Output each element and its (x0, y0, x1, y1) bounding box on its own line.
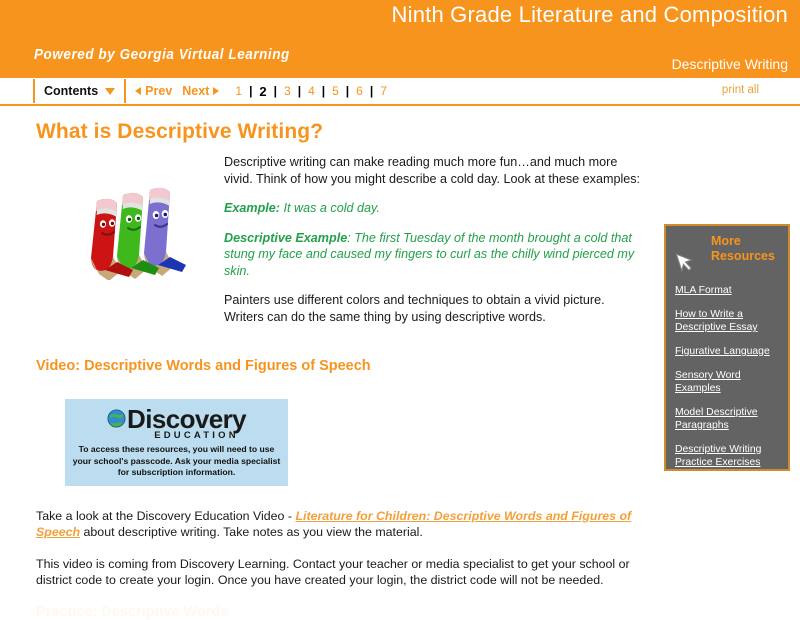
page-navigation-bar: Contents Prev Next 1 | 2 | 3 | 4 | 5 | 6… (0, 78, 800, 106)
three-cartoon-pencils-image (80, 168, 192, 280)
chevron-down-icon (105, 88, 115, 95)
page-link-7[interactable]: 7 (378, 84, 389, 98)
intro-paragraph: Descriptive writing can make reading muc… (224, 154, 642, 187)
sidebar-link-descriptive-writing-practice-exercises[interactable]: Descriptive Writing Practice Exercises (675, 443, 779, 469)
sidebar-link-model-descriptive-paragraphs[interactable]: Model Descriptive Paragraphs (675, 406, 779, 432)
page-link-3[interactable]: 3 (282, 84, 293, 98)
example-text: It was a cold day. (280, 201, 380, 215)
arrow-right-icon[interactable] (213, 87, 219, 95)
tail-text-block: Take a look at the Discovery Education V… (36, 508, 636, 589)
sidebar-link-sensory-word-examples[interactable]: Sensory Word Examples (675, 369, 779, 395)
more-resources-panel: More Resources MLA Format How to Write a… (664, 224, 790, 471)
example-line: Example: It was a cold day. (224, 200, 642, 217)
intro-text-block: Descriptive writing can make reading muc… (224, 154, 642, 325)
video-section-title: Video: Descriptive Words and Figures of … (36, 338, 646, 374)
nav-links-group: Prev Next 1 | 2 | 3 | 4 | 5 | 6 | 7 (126, 84, 389, 99)
site-header: Ninth Grade Literature and Composition D… (0, 0, 800, 78)
main-content-column: What is Descriptive Writing? (36, 106, 646, 620)
page-link-4[interactable]: 4 (306, 84, 317, 98)
contents-button[interactable]: Contents (35, 79, 124, 103)
prev-button[interactable]: Prev (145, 84, 172, 98)
discovery-education-sub: EDUCATION (71, 430, 282, 441)
next-button[interactable]: Next (182, 84, 209, 98)
example-label: Example: (224, 201, 280, 215)
page-link-6[interactable]: 6 (354, 84, 365, 98)
powered-by-label: Powered by Georgia Virtual Learning (34, 47, 290, 63)
descriptive-example-label: Descriptive Example (224, 231, 347, 245)
arrow-left-icon[interactable] (135, 87, 141, 95)
page-separator: | (244, 84, 257, 98)
globe-icon (107, 409, 126, 428)
login-info-paragraph: This video is coming from Discovery Lear… (36, 556, 636, 589)
video-instruction-paragraph: Take a look at the Discovery Education V… (36, 508, 636, 541)
page-title: What is Descriptive Writing? (36, 106, 646, 144)
page-link-5[interactable]: 5 (330, 84, 341, 98)
page-separator: | (293, 84, 306, 98)
painters-paragraph: Painters use different colors and techni… (224, 292, 642, 325)
more-resources-links: MLA Format How to Write a Descriptive Es… (666, 284, 788, 469)
page-separator: | (341, 84, 354, 98)
intro-section: Descriptive writing can make reading muc… (36, 154, 646, 325)
discovery-passcode-note: To access these resources, you will need… (71, 444, 282, 479)
more-resources-header: More Resources (666, 226, 788, 284)
print-all-link[interactable]: print all (722, 84, 759, 96)
next-section-heading-cutoff: Practice: Descriptive Words (36, 604, 646, 620)
more-resources-title: More Resources (687, 234, 779, 264)
sidebar-link-mla-format[interactable]: MLA Format (675, 284, 779, 297)
tail-outro-text: about descriptive writing. Take notes as… (80, 525, 423, 539)
page-link-1[interactable]: 1 (233, 84, 244, 98)
tail-intro-text: Take a look at the Discovery Education V… (36, 509, 295, 523)
page-separator: | (269, 84, 282, 98)
discovery-logo: Discovery (71, 406, 282, 432)
page-link-2[interactable]: 2 (257, 84, 268, 99)
course-title: Ninth Grade Literature and Composition (268, 2, 788, 27)
descriptive-example-line: Descriptive Example: The first Tuesday o… (224, 230, 642, 280)
contents-label: Contents (44, 84, 98, 98)
sidebar-link-figurative-language[interactable]: Figurative Language (675, 345, 779, 358)
page-separator: | (365, 84, 378, 98)
discovery-education-banner[interactable]: Discovery EDUCATION To access these reso… (65, 399, 288, 486)
sidebar-link-how-to-write-descriptive-essay[interactable]: How to Write a Descriptive Essay (675, 308, 779, 334)
unit-title: Descriptive Writing (268, 56, 788, 73)
page-number-list: 1 | 2 | 3 | 4 | 5 | 6 | 7 (233, 84, 389, 99)
page-separator: | (317, 84, 330, 98)
page-body: What is Descriptive Writing? (0, 106, 800, 590)
discovery-wordmark: Discovery (127, 406, 246, 432)
